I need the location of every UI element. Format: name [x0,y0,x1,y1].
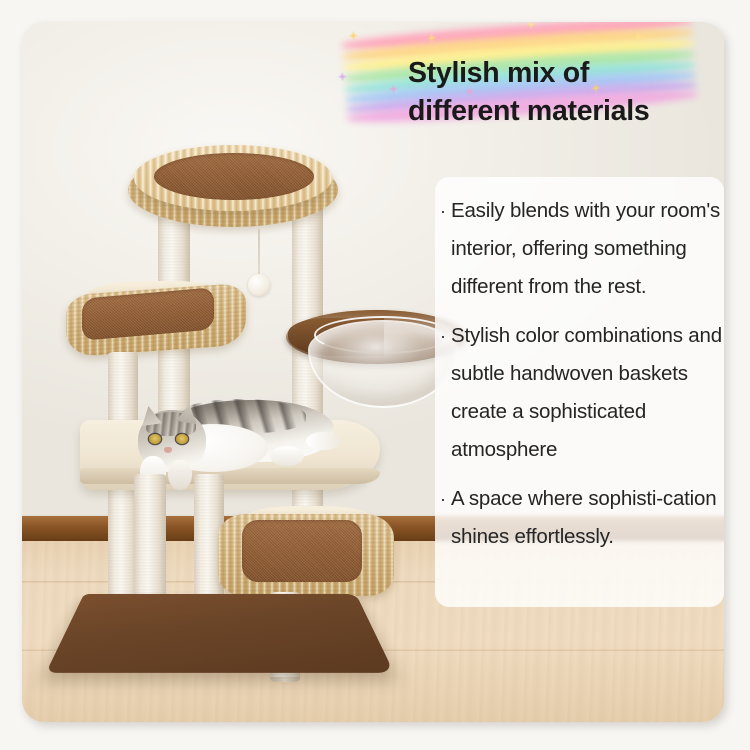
headline-line-2: different materials [408,92,724,130]
bullet-text: Stylish color combinations and subtle ha… [451,317,724,469]
headline-area: Stylish mix of different materials [340,22,724,150]
cat-paw-front-right [168,460,192,490]
feature-bullet-list: · Easily blends with your room's interio… [440,192,724,567]
bullet-text: A space where sophisti-cation shines eff… [451,480,724,556]
bullet-text: Easily blends with your room's interior,… [451,192,724,306]
mid-left-platform-basket [66,277,246,365]
base-board [46,594,394,673]
cat-nose [164,447,172,453]
top-basket-mat [154,153,314,200]
list-item: · Easily blends with your room's interio… [440,192,724,306]
bullet-marker: · [440,192,451,306]
list-item: · Stylish color combinations and subtle … [440,317,724,469]
list-item: · A space where sophisti-cation shines e… [440,480,724,556]
top-platform-basket [128,145,338,237]
dangling-toy-string [258,229,260,277]
bullet-marker: · [440,317,451,469]
cat-eye-left [149,434,161,444]
bullet-marker: · [440,480,451,556]
product-feature-card: · Easily blends with your room's interio… [22,22,724,722]
cat-tail [306,432,340,450]
headline-line-1: Stylish mix of [408,57,589,89]
pom-pom-toy [248,274,270,296]
page-title: Stylish mix of different materials [408,54,724,130]
sparkle-icon [349,31,359,41]
cat-eye-right [176,434,188,444]
cat-paw-hind [270,446,304,466]
capsule-rim-highlight [314,316,452,354]
bottom-basket-mat [242,520,362,582]
